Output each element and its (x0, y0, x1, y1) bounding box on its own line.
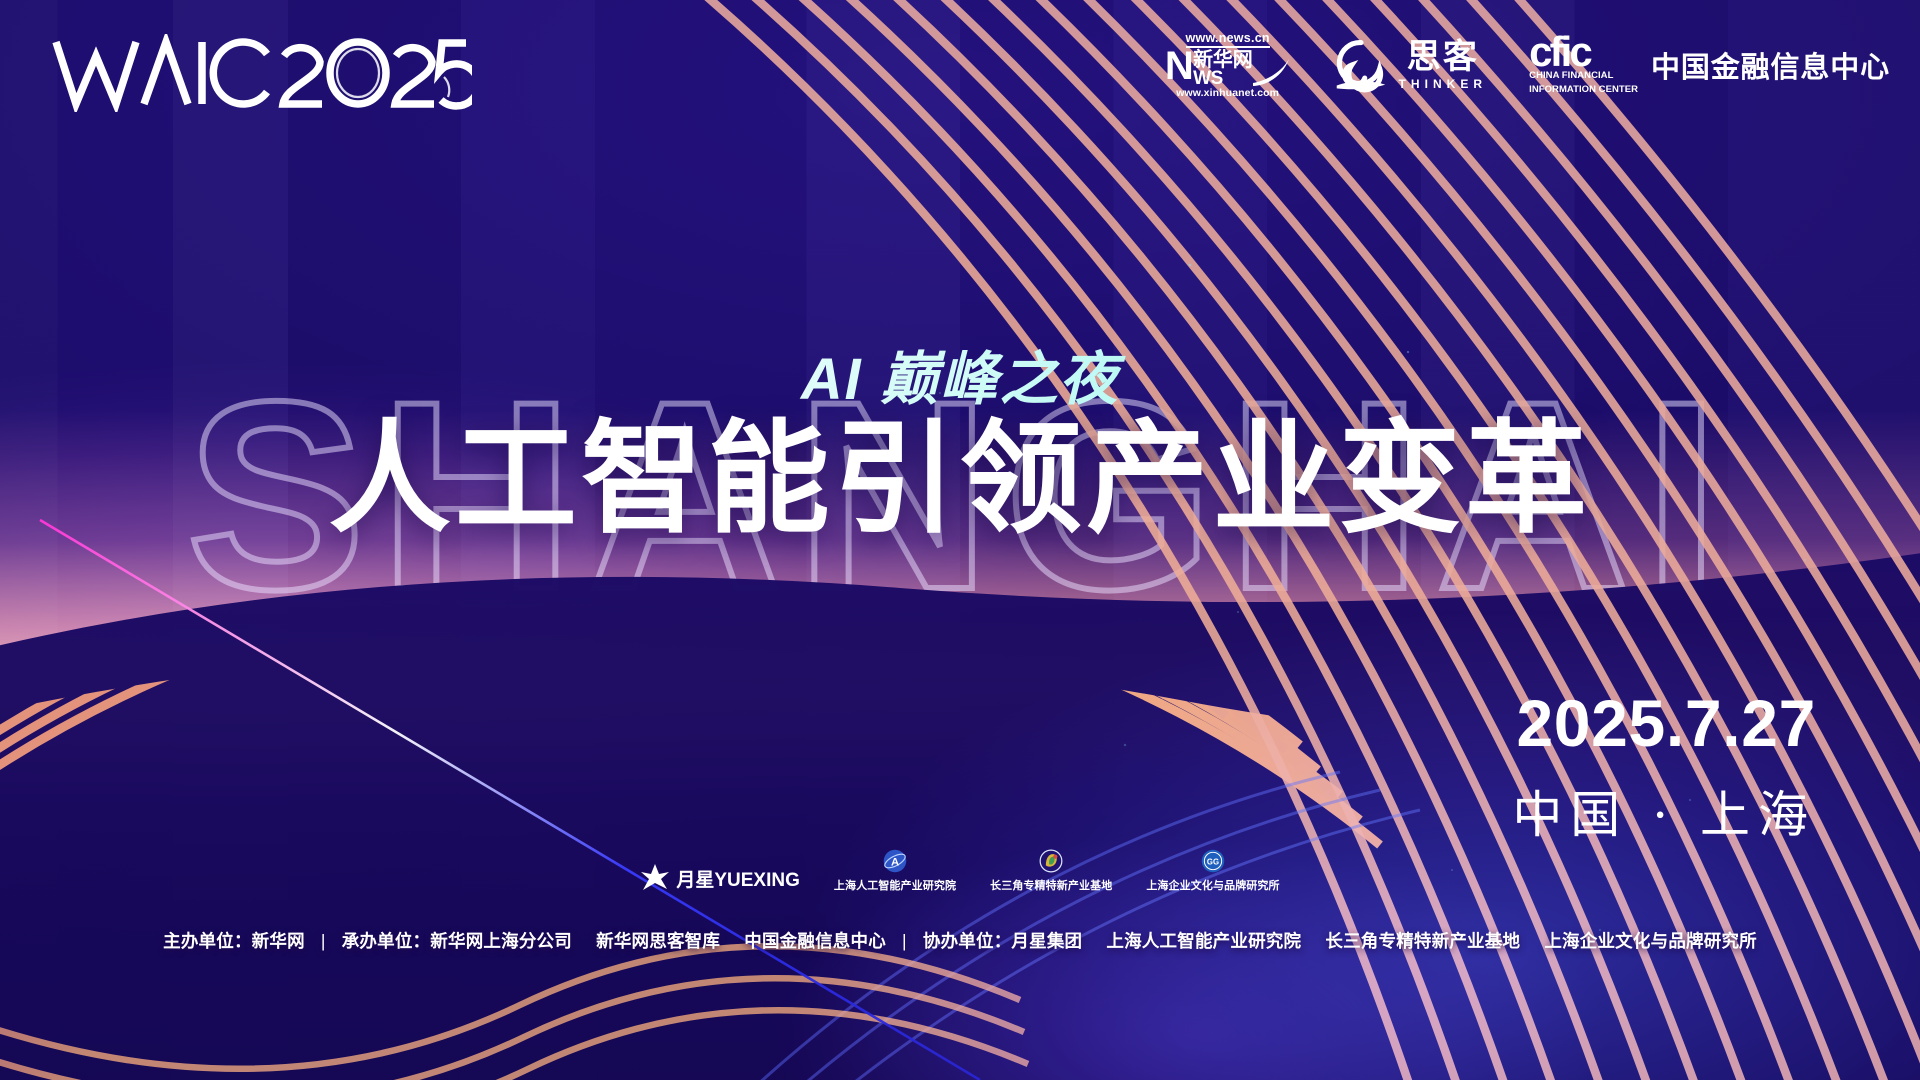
footer-organizer-3: 中国金融信息中心 (744, 931, 886, 951)
sponsor-ai-institute-name: 上海人工智能产业研究院 (834, 877, 956, 893)
footer-coorganizer-2: 上海人工智能产业研究院 (1106, 931, 1301, 951)
yuexing-star-icon (640, 863, 670, 893)
svg-text:GG: GG (1207, 857, 1219, 866)
waic-2025-logo (52, 34, 472, 112)
footer-separator-1: | (310, 931, 337, 952)
ai-institute-icon: A (882, 848, 908, 874)
xinhua-url-bottom: www.xinhuanet.com (1176, 88, 1279, 99)
sponsor-ai-institute: A 上海人工智能产业研究院 (834, 848, 956, 893)
sponsor-yangtze-base-name: 长三角专精特新产业基地 (990, 877, 1112, 893)
event-banner: SHANGHAI (0, 0, 1920, 1080)
event-date: 2025.7.27 (1516, 690, 1816, 756)
cfic-sub-line1: CHINA FINANCIAL (1529, 71, 1638, 82)
sponsor-logos-row: 月星YUEXING A 上海人工智能产业研究院 长三角专精特新产业基地 (0, 848, 1920, 893)
sponsor-yuexing-name: 月星YUEXING (676, 865, 800, 892)
event-headline: 人工智能引领产业变革 (0, 415, 1920, 543)
header-partner-logos: www.news.cn N 新华网 WS www.xinhuanet.com 思… (1165, 32, 1890, 98)
footer-coorganizer-3: 长三角专精特新产业基地 (1325, 931, 1520, 951)
sponsor-brand-institute: GG 上海企业文化与品牌研究所 (1146, 848, 1279, 893)
sponsor-yangtze-base: 长三角专精特新产业基地 (990, 848, 1112, 893)
cfic-name-cn: 中国金融信息中心 (1651, 44, 1890, 86)
event-subtitle: AI 巅峰之夜 (0, 332, 1920, 416)
xinhua-name-cn: 新华网 (1193, 50, 1252, 70)
sponsor-brand-institute-name: 上海企业文化与品牌研究所 (1146, 877, 1279, 893)
brand-institute-icon: GG (1200, 848, 1226, 874)
yangtze-base-icon (1038, 848, 1064, 874)
svg-text:A: A (891, 856, 899, 868)
footer-coorganizer-1: 协办单位：月星集团 (923, 931, 1082, 951)
sponsor-yuexing: 月星YUEXING (640, 863, 800, 893)
footer-separator-2: | (891, 931, 918, 952)
footer-organizer-2: 新华网思客智库 (596, 931, 720, 951)
xinhua-letters-ws: WS (1193, 70, 1252, 87)
footer-organizer-1: 承办单位：新华网上海分公司 (342, 931, 572, 951)
footer-host: 主办单位：新华网 (163, 931, 305, 951)
xinhua-letter-n: N (1165, 50, 1192, 87)
footer-organizers: 主办单位：新华网 | 承办单位：新华网上海分公司 新华网思客智库 中国金融信息中… (0, 928, 1920, 953)
cfic-sub-line2: INFORMATION CENTER (1529, 85, 1638, 96)
cfic-letters: cfic (1529, 35, 1638, 69)
thinker-name-cn: 思客 (1407, 40, 1479, 74)
thinker-name-en: THINKER (1399, 77, 1488, 91)
xinhua-logo: www.news.cn N 新华网 WS www.xinhuanet.com (1165, 32, 1291, 98)
thinker-logo: 思客 THINKER (1333, 37, 1488, 93)
footer-coorganizer-4: 上海企业文化与品牌研究所 (1544, 931, 1757, 951)
event-place: 中国 · 上海 (1512, 790, 1816, 840)
xinhua-url-top: www.news.cn (1186, 32, 1270, 48)
thinker-spiral-icon (1333, 37, 1389, 93)
cfic-logo: cfic CHINA FINANCIAL INFORMATION CENTER … (1529, 35, 1890, 96)
xinhua-swoosh-icon (1251, 53, 1291, 87)
